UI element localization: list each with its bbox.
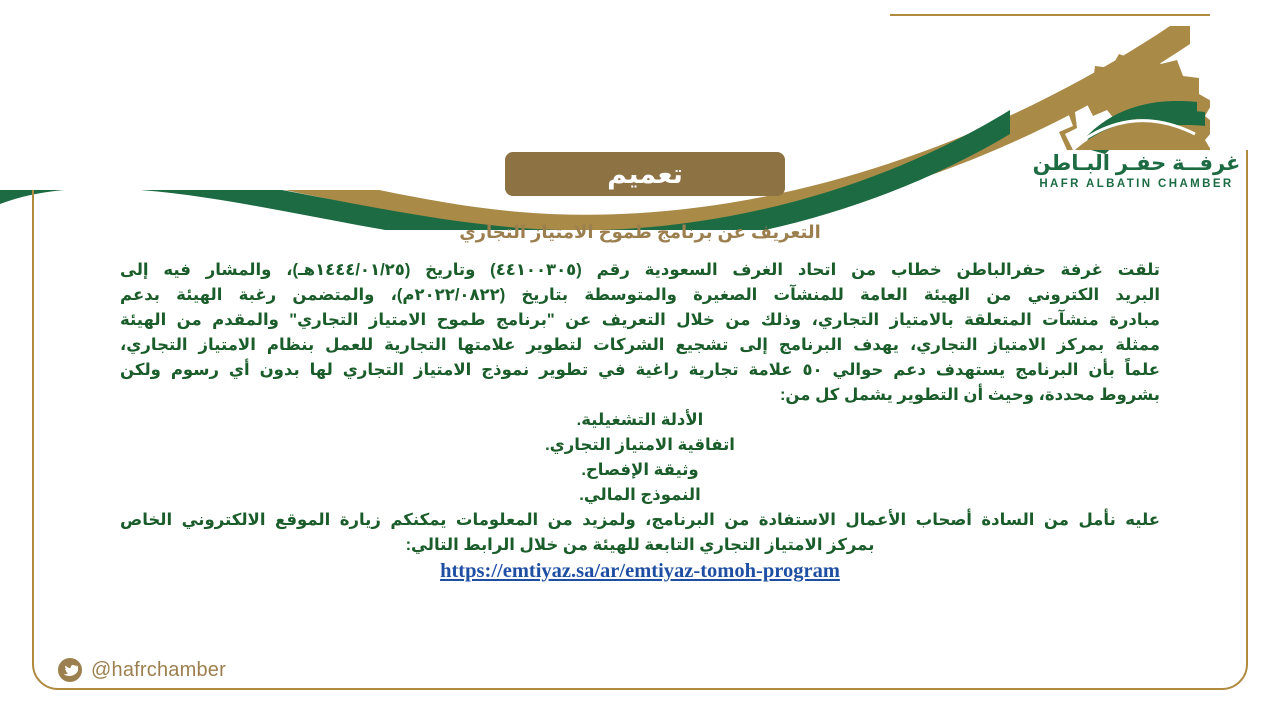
- paragraph-line: علماً بأن البرنامج يستهدف دعم حوالي ٥٠ ع…: [120, 358, 1160, 383]
- list-item: اتفاقية الامتياز التجاري.: [120, 433, 1160, 458]
- paragraph-line: البريد الكتروني من الهيئة العامة للمنشآت…: [120, 283, 1160, 308]
- twitter-bird-glyph: [63, 663, 78, 678]
- list-item: الأدلة التشغيلية.: [120, 408, 1160, 433]
- paragraph-line: ممثلة بمركز الامتياز التجاري، يهدف البرن…: [120, 333, 1160, 358]
- twitter-handle-text[interactable]: @hafrchamber: [91, 659, 226, 682]
- paragraph-line: بشروط محددة، وحيث أن التطوير يشمل كل من:: [120, 383, 1160, 408]
- logo-english-name: HAFR ALBATIN CHAMBER: [1029, 178, 1244, 190]
- development-items-list: الأدلة التشغيلية. اتفاقية الامتياز التجا…: [120, 408, 1160, 508]
- closing-line: بمركز الامتياز التجاري التابعة للهيئة من…: [120, 533, 1160, 558]
- paragraph-line: مبادرة منشآت المتعلقة بالامتياز التجاري،…: [120, 308, 1160, 333]
- twitter-icon[interactable]: [58, 658, 82, 682]
- list-item: وثيقة الإفصاح.: [120, 458, 1160, 483]
- logo-arabic-name: غرفــة حفـر البـاطن: [1029, 152, 1244, 175]
- twitter-account[interactable]: @hafrchamber: [58, 658, 226, 682]
- circular-title-badge: تعميم: [505, 152, 785, 196]
- paragraph-line: تلقت غرفة حفرالباطن خطاب من اتحاد الغرف …: [120, 258, 1160, 283]
- program-link-row: https://emtiyaz.sa/ar/emtiyaz-tomoh-prog…: [120, 559, 1160, 585]
- frame-mask-left: [0, 0, 420, 190]
- circular-body: تلقت غرفة حفرالباطن خطاب من اتحاد الغرف …: [120, 258, 1160, 585]
- frame-mask-right: [1210, 0, 1280, 150]
- program-link[interactable]: https://emtiyaz.sa/ar/emtiyaz-tomoh-prog…: [440, 559, 840, 584]
- frame-mask-top: [330, 0, 890, 18]
- intro-paragraph: تلقت غرفة حفرالباطن خطاب من اتحاد الغرف …: [120, 258, 1160, 408]
- list-item: النموذج المالي.: [120, 483, 1160, 508]
- circular-poster: غرفــة حفـر البـاطن HAFR ALBATIN CHAMBER…: [0, 0, 1280, 720]
- closing-paragraph: عليه نأمل من السادة أصحاب الأعمال الاستف…: [120, 508, 1160, 558]
- closing-line: عليه نأمل من السادة أصحاب الأعمال الاستف…: [120, 508, 1160, 533]
- page-subtitle: التعريف عن برنامج طموح الامتياز التجاري: [0, 222, 1280, 243]
